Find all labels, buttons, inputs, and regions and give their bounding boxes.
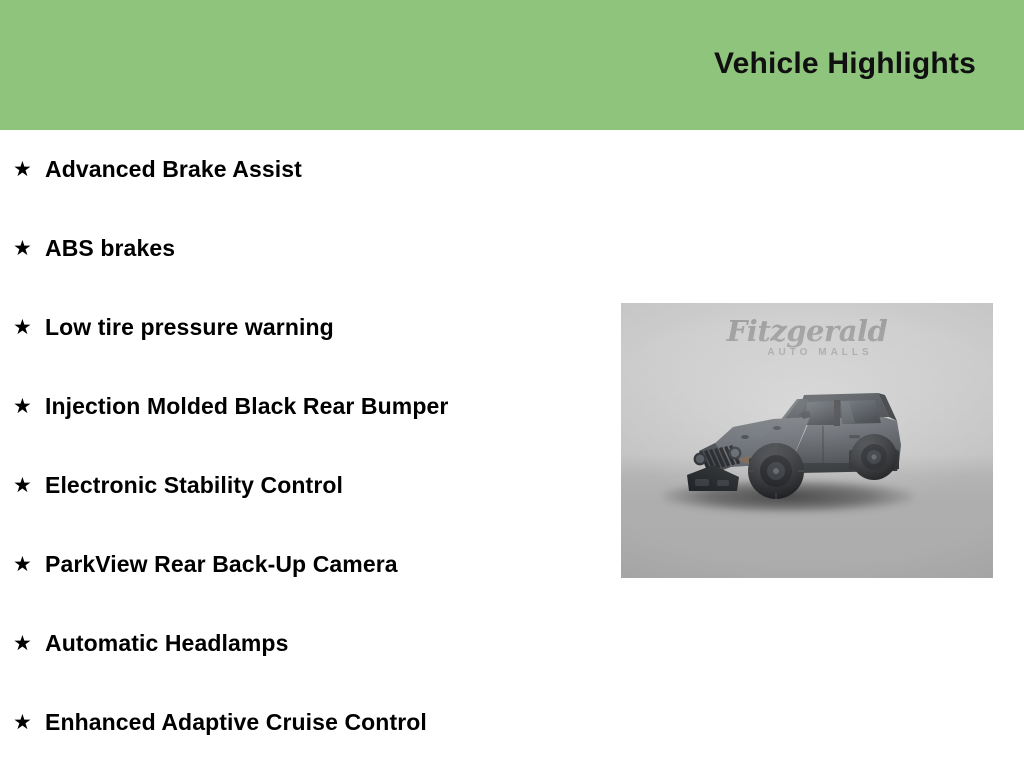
list-item-label: Enhanced Adaptive Cruise Control (45, 709, 427, 736)
vehicle-photo: Fitzgerald AUTO MALLS (621, 303, 993, 578)
vehicle-highlights-list: ★ Advanced Brake Assist ★ ABS brakes ★ L… (0, 130, 620, 762)
dealer-watermark: Fitzgerald AUTO MALLS (621, 317, 993, 358)
list-item: ★ ABS brakes (0, 209, 620, 288)
list-item: ★ Injection Molded Black Rear Bumper (0, 367, 620, 446)
list-item-label: Injection Molded Black Rear Bumper (45, 393, 448, 420)
star-icon: ★ (13, 712, 45, 733)
list-item-label: Electronic Stability Control (45, 472, 343, 499)
star-icon: ★ (13, 238, 45, 259)
list-item-label: ParkView Rear Back-Up Camera (45, 551, 398, 578)
list-item-label: ABS brakes (45, 235, 175, 262)
star-icon: ★ (13, 396, 45, 417)
star-icon: ★ (13, 633, 45, 654)
list-item: ★ ParkView Rear Back-Up Camera (0, 525, 620, 604)
list-item: ★ Automatic Headlamps (0, 604, 620, 683)
dealer-watermark-subtitle: AUTO MALLS (621, 347, 993, 358)
list-item: ★ Advanced Brake Assist (0, 130, 620, 209)
list-item: ★ Low tire pressure warning (0, 288, 620, 367)
header-band: Vehicle Highlights (0, 0, 1024, 130)
list-item-label: Advanced Brake Assist (45, 156, 302, 183)
star-icon: ★ (13, 554, 45, 575)
star-icon: ★ (13, 317, 45, 338)
list-item: ★ Enhanced Adaptive Cruise Control (0, 683, 620, 762)
dealer-watermark-brand: Fitzgerald (621, 317, 993, 346)
list-item-label: Automatic Headlamps (45, 630, 288, 657)
list-item: ★ Electronic Stability Control (0, 446, 620, 525)
list-item-label: Low tire pressure warning (45, 314, 334, 341)
page-title: Vehicle Highlights (714, 49, 976, 79)
star-icon: ★ (13, 475, 45, 496)
vehicle-illustration (673, 359, 953, 519)
star-icon: ★ (13, 159, 45, 180)
